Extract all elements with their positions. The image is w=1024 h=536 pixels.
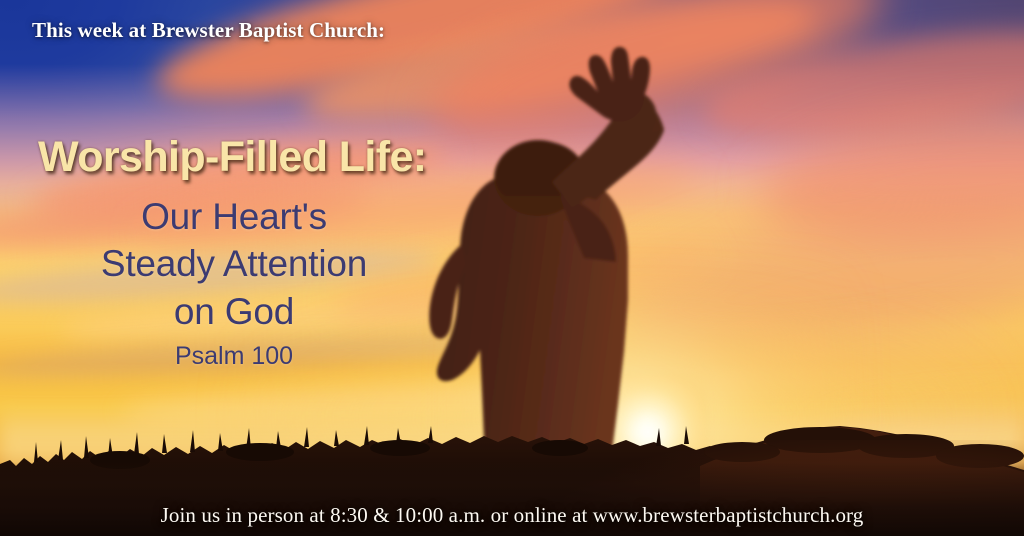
sermon-series-title: Worship-Filled Life:	[24, 136, 444, 179]
sermon-subtitle-line-1: Our Heart's	[24, 193, 444, 240]
sermon-subtitle: Our Heart's Steady Attention on God	[24, 193, 444, 335]
scripture-reference: Psalm 100	[24, 341, 444, 371]
sermon-subtitle-line-2: Steady Attention	[24, 240, 444, 287]
church-announcement-poster: This week at Brewster Baptist Church: Wo…	[0, 0, 1024, 536]
eyebrow-heading: This week at Brewster Baptist Church:	[32, 18, 385, 43]
title-block: Worship-Filled Life: Our Heart's Steady …	[24, 136, 444, 371]
sermon-subtitle-line-3: on God	[24, 288, 444, 335]
service-times-and-website: Join us in person at 8:30 & 10:00 a.m. o…	[0, 503, 1024, 528]
